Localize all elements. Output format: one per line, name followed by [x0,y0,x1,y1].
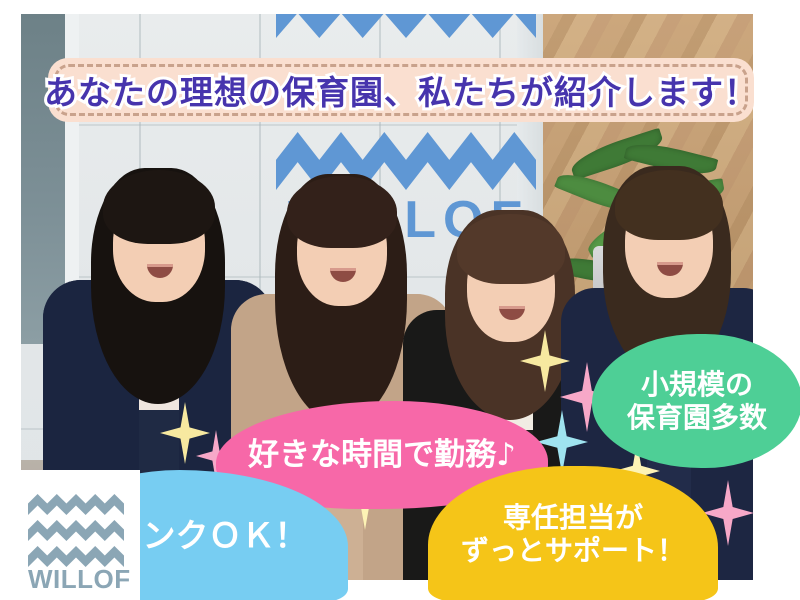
zigzag-icon [276,14,536,38]
bubble-green-line2: 保育園多数 [627,401,767,434]
bubble-yellow-line2: ずっとサポート！ [461,534,685,567]
zigzag-icon [28,520,124,541]
logo-wordmark: WILLOF [28,564,128,595]
recruitment-ad-banner: WILLOF [0,0,800,600]
headline-text: あなたの理想の保育園、私たちが紹介します！ [44,66,758,114]
willof-logo-card: WILLOF [9,470,140,600]
bubble-pink-text: 好きな時間で勤務♪ [248,437,516,474]
zigzag-icon [28,494,124,515]
headline-banner: あなたの理想の保育園、私たちが紹介します！ [48,58,754,122]
bubble-green-line1: 小規模の [627,368,767,401]
bubble-yellow-line1: 専任担当が [461,501,685,534]
bubble-small-nursery: 小規模の 保育園多数 [592,334,800,468]
